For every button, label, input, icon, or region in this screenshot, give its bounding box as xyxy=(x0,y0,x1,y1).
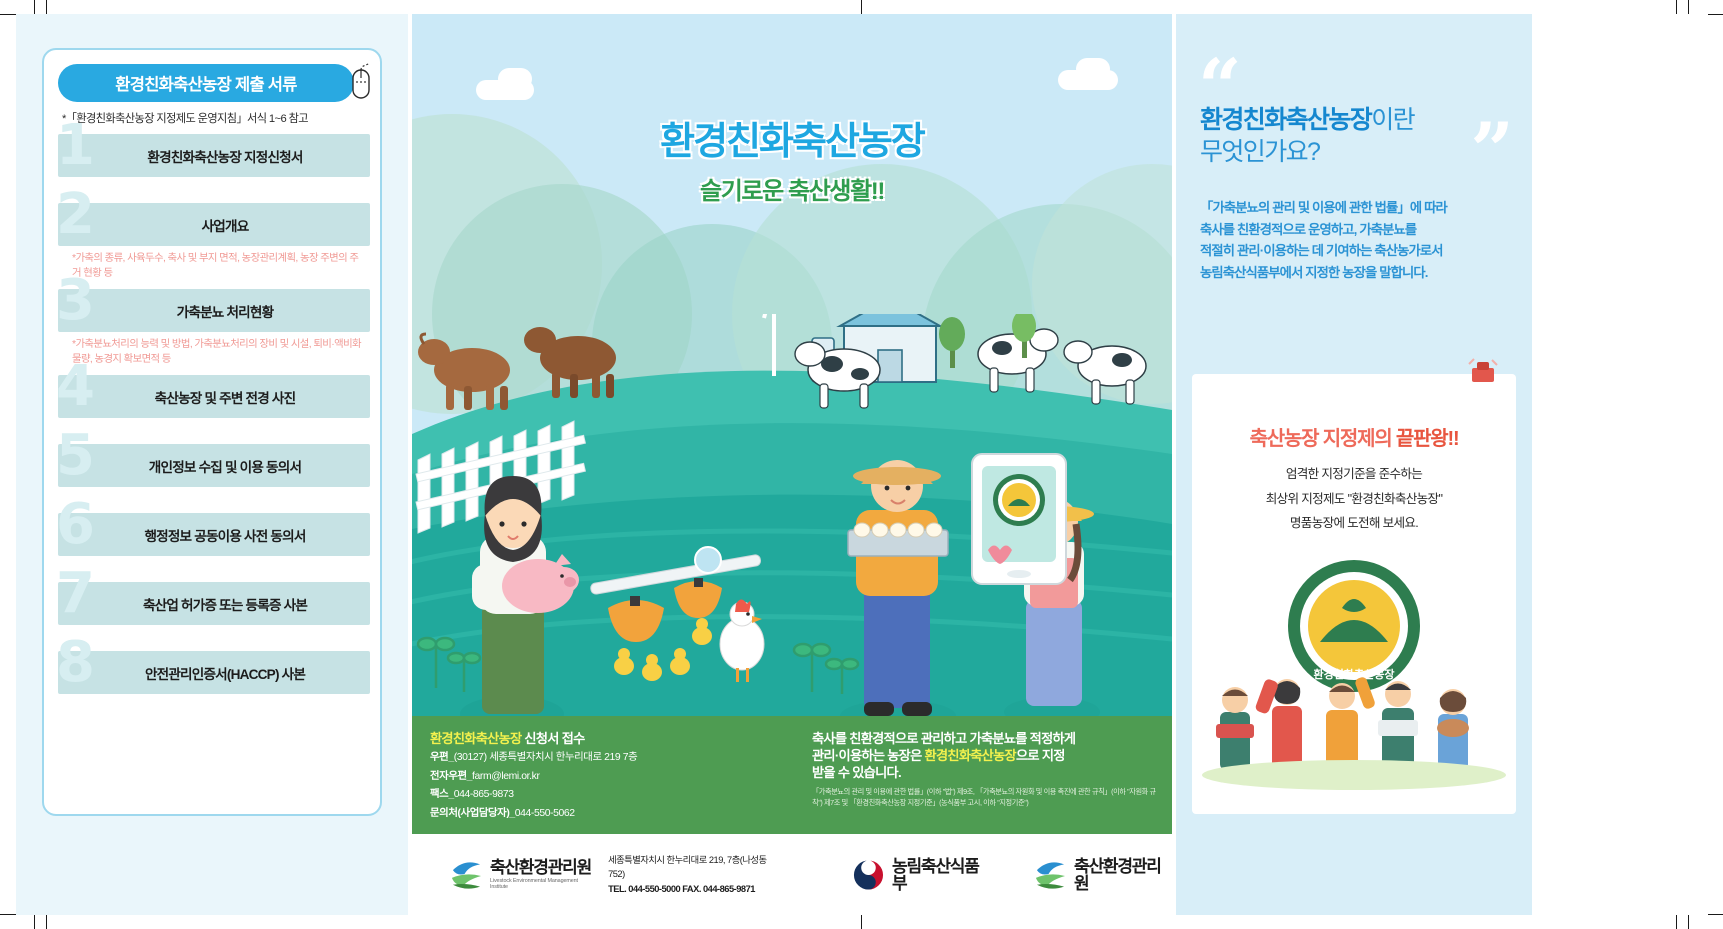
egg-tray-icon xyxy=(848,523,948,556)
contact-label: 우편_ xyxy=(430,752,454,763)
center-title-block: 환경친화축산농장 슬기로운 축산생활!! xyxy=(412,110,1172,206)
contact-line: 문의처(사업담당자)_044-550-5062 xyxy=(430,806,780,822)
contact-line: 전자우편_farm@lemi.or.kr xyxy=(430,769,780,785)
institute-logo-name: 축산환경관리원 xyxy=(490,859,594,876)
institute-logo-icon xyxy=(1034,858,1067,892)
list-item[interactable]: 6 행정정보 공동이용 사전 동의서 xyxy=(58,513,370,577)
checklist-header-label: 환경친화축산농장 제출 서류 xyxy=(115,71,297,95)
item-label: 개인정보 수집 및 이용 동의서 xyxy=(127,456,301,476)
windmill-icon xyxy=(746,314,804,376)
contact-label: 전자우편_ xyxy=(430,771,472,782)
list-item[interactable]: 7 축산업 허가증 또는 등록증 사본 xyxy=(58,582,370,646)
item-number: 1 xyxy=(56,118,95,174)
right-panel: “ ” 환경친화축산농장이란 무엇인가요? 「가축분뇨의 관리 및 이용에 관한… xyxy=(1176,14,1532,915)
item-number: 4 xyxy=(56,359,95,415)
taegeuk-icon xyxy=(852,858,885,892)
item-label: 축산농장 및 주변 전경 사진 xyxy=(133,387,296,407)
application-heading-rest: 신청서 접수 xyxy=(521,731,584,746)
cloud-icon xyxy=(1076,58,1110,80)
list-item[interactable]: 3 가축분뇨 처리현황 *가축분뇨처리의 능력 및 방법, 가축분뇨처리의 장비… xyxy=(58,289,370,370)
item-label: 가축분뇨 처리현황 xyxy=(155,301,274,321)
item-label: 환경친화축산농장 지정신청서 xyxy=(125,146,302,166)
designation-heading: 축사를 친환경적으로 관리하고 가축분뇨를 적정하게 관리·이용하는 농장은 환… xyxy=(812,730,1160,781)
item-number: 7 xyxy=(56,566,95,622)
right-title-bold: 환경친화축산농장 xyxy=(1200,106,1371,134)
application-heading-highlight: 환경친화축산농장 xyxy=(430,731,521,746)
institute-logo-icon xyxy=(450,858,483,892)
item-number: 6 xyxy=(56,497,95,553)
designation-fineprint: 「가축분뇨의 관리 및 이용에 관한 법률」(이하 "법") 제9조, 「가축분… xyxy=(812,787,1160,808)
contact-line: 팩스_044-865-9873 xyxy=(430,787,780,803)
item-label: 사업개요 xyxy=(180,215,249,235)
cow-icon xyxy=(1064,341,1146,404)
brochure-page: 환경친화축산농장 제출 서류 *「환경친화축산농장 지정제도 운영지침」서식 1… xyxy=(0,0,1723,929)
list-item[interactable]: 2 사업개요 *가축의 종류, 사육두수, 축사 및 부지 면적, 농장관리계획… xyxy=(58,203,370,284)
farm-scene-illustration xyxy=(412,314,1172,734)
contact-value: 044-865-9873 xyxy=(454,789,514,800)
institute-contact: TEL. 044-550-5000 FAX. 044-865-9871 xyxy=(608,884,755,894)
center-title-line1: 환경친화축산농장 xyxy=(412,110,1172,165)
application-contact-block: 환경친화축산농장 신청서 접수 우편_(30127) 세종특별자치시 한누리대로… xyxy=(430,730,780,822)
designation-summary-block: 축사를 친환경적으로 관리하고 가축분뇨를 적정하게 관리·이용하는 농장은 환… xyxy=(812,730,1160,808)
right-title-line1: 환경친화축산농장이란 xyxy=(1200,104,1520,136)
right-title-block: 환경친화축산농장이란 무엇인가요? xyxy=(1200,104,1520,168)
cloud-icon xyxy=(498,68,532,90)
contact-label: 팩스_ xyxy=(430,789,454,800)
item-number: 3 xyxy=(56,273,95,329)
designation-line2-pre: 관리·이용하는 농장은 xyxy=(812,748,925,763)
institute-logo: 축산환경관리원 Livestock Environmental Manageme… xyxy=(450,858,594,892)
contact-line: 우편_(30127) 세종특별자치시 한누리대로 219 7층 xyxy=(430,750,780,766)
application-heading: 환경친화축산농장 신청서 접수 xyxy=(430,730,780,747)
promo-card-title: 축산농장 지정제의 끝판왕!! xyxy=(1192,422,1516,451)
list-item[interactable]: 8 안전관리인증서(HACCP) 사본 xyxy=(58,651,370,694)
promo-title-pre: 축산농장 지정제의 xyxy=(1250,428,1396,450)
item-label: 행정정보 공동이용 사전 동의서 xyxy=(122,525,305,545)
tree-icon xyxy=(939,317,965,368)
designation-line1: 축사를 친환경적으로 관리하고 가축분뇨를 적정하게 xyxy=(812,731,1075,746)
smartphone-icon xyxy=(972,454,1066,584)
mouse-cursor-icon xyxy=(348,60,374,100)
item-note: *가축분뇨처리의 능력 및 방법, 가축분뇨처리의 장비 및 시설, 퇴비·액비… xyxy=(58,332,370,370)
institute-address-block: 세종특별자치시 한누리대로 219, 7층(나성동 752) TEL. 044-… xyxy=(608,853,780,896)
designation-line2-post: 으로 지정 xyxy=(1016,748,1065,763)
designation-line2-highlight: 환경친화축산농장 xyxy=(925,748,1016,763)
contact-value: 044-550-5062 xyxy=(515,808,575,819)
institute-logo-2: 축산환경관리원 xyxy=(1034,858,1172,892)
cow-icon xyxy=(418,334,510,410)
promo-card-ground xyxy=(1202,760,1506,790)
designation-promo-card: 축산농장 지정제의 끝판왕!! 엄격한 지정기준을 준수하는 최상위 지정제도 … xyxy=(1192,374,1516,814)
center-title-line2: 슬기로운 축산생활!! xyxy=(412,171,1172,206)
item-note: *가축의 종류, 사육두수, 축사 및 부지 면적, 농장관리계획, 농장 주변… xyxy=(58,246,370,284)
checklist-subnote: *「환경친화축산농장 지정제도 운영지침」서식 1~6 참고 xyxy=(62,110,372,126)
item-label: 안전관리인증서(HACCP) 사본 xyxy=(123,663,305,683)
item-number: 8 xyxy=(56,635,95,691)
list-item[interactable]: 4 축산농장 및 주변 전경 사진 xyxy=(58,375,370,439)
left-panel: 환경친화축산농장 제출 서류 *「환경친화축산농장 지정제도 운영지침」서식 1… xyxy=(16,14,408,915)
institute-logo-2-name: 축산환경관리원 xyxy=(1074,858,1172,892)
ministry-logo-name: 농림축산식품부 xyxy=(892,858,990,892)
list-item[interactable]: 5 개인정보 수집 및 이용 동의서 xyxy=(58,444,370,508)
item-number: 5 xyxy=(56,428,95,484)
right-body-text: 「가축분뇨의 관리 및 이용에 관한 법률」에 따라 축사를 친환경적으로 운영… xyxy=(1200,197,1518,283)
right-bleed-panel xyxy=(1536,14,1708,915)
item-label: 축산업 허가증 또는 등록증 사본 xyxy=(121,594,307,614)
checklist-items: 1 환경친화축산농장 지정신청서 2 사업개요 *가축의 종류, 사육두수, 축… xyxy=(58,134,370,699)
contact-value: (30127) 세종특별자치시 한누리대로 219 7층 xyxy=(454,752,638,763)
paperclip-icon xyxy=(1468,358,1498,384)
contact-value: farm@lemi.or.kr xyxy=(472,771,539,782)
center-green-band: 환경친화축산농장 신청서 접수 우편_(30127) 세종특별자치시 한누리대로… xyxy=(412,716,1172,834)
promo-title-big: 끝판왕!! xyxy=(1396,428,1459,450)
contact-label: 문의처(사업담당자)_ xyxy=(430,808,515,819)
document-checklist-card: 환경친화축산농장 제출 서류 *「환경친화축산농장 지정제도 운영지침」서식 1… xyxy=(42,48,382,816)
right-title-rest: 이란 xyxy=(1371,106,1414,134)
institute-logo-name-en: Livestock Environmental Management Insti… xyxy=(490,878,594,890)
center-panel: 환경친화축산농장 슬기로운 축산생활!! xyxy=(412,14,1172,915)
checklist-header: 환경친화축산농장 제출 서류 xyxy=(58,64,354,102)
promo-card-body: 엄격한 지정기준을 준수하는 최상위 지정제도 "환경친화축산농장" 명품농장에… xyxy=(1192,462,1516,536)
right-title-line2: 무엇인가요? xyxy=(1200,136,1520,168)
item-number: 2 xyxy=(56,187,95,243)
designation-line3: 받을 수 있습니다. xyxy=(812,765,901,780)
list-item[interactable]: 1 환경친화축산농장 지정신청서 xyxy=(58,134,370,198)
center-footer: 축산환경관리원 Livestock Environmental Manageme… xyxy=(412,834,1172,915)
ministry-logo: 농림축산식품부 xyxy=(852,858,990,892)
institute-address: 세종특별자치시 한누리대로 219, 7층(나성동 752) xyxy=(608,853,780,882)
